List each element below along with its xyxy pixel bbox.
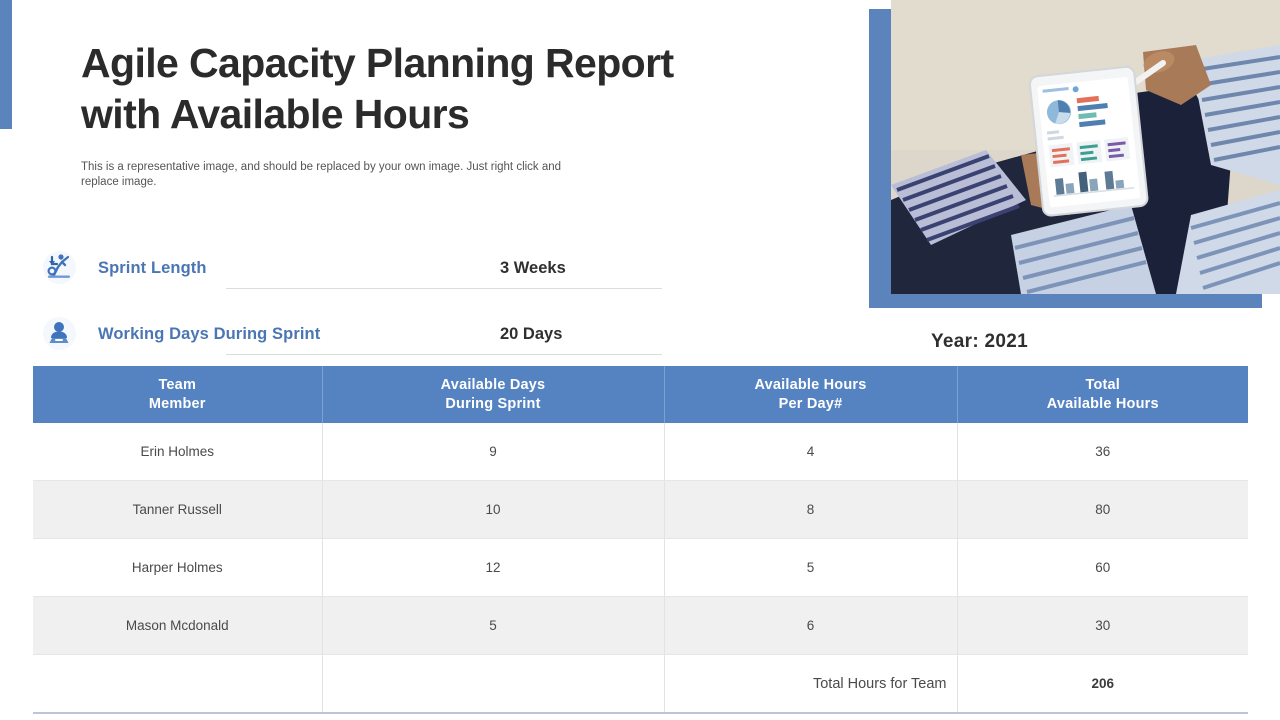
- metric-label: Working Days During Sprint: [98, 325, 320, 344]
- column-header-available-days[interactable]: Available Days During Sprint: [322, 366, 664, 423]
- header-photo[interactable]: [891, 0, 1280, 294]
- cell-total-hours: 30: [957, 597, 1248, 655]
- metric-divider: [226, 288, 662, 289]
- tablet-analytics-photo-icon: [891, 0, 1280, 294]
- cell-team-member: Mason Mcdonald: [33, 597, 322, 655]
- header-line-2: During Sprint: [323, 395, 664, 414]
- cell-total-hours: 80: [957, 481, 1248, 539]
- year-label: Year: 2021: [931, 331, 1028, 353]
- image-placeholder-note: This is a representative image, and shou…: [81, 160, 581, 190]
- capacity-table: Team Member Available Days During Sprint…: [33, 366, 1248, 714]
- header-line-2: Available Hours: [958, 395, 1249, 414]
- total-hours-label: Total Hours for Team: [664, 655, 957, 714]
- cell-team-member: Erin Holmes: [33, 423, 322, 481]
- header-line-1: Available Days: [323, 376, 664, 395]
- cell-hours-per-day: 4: [664, 423, 957, 481]
- metric-label: Sprint Length: [98, 259, 207, 278]
- header-line-1: Team: [33, 376, 322, 395]
- cell-hours-per-day: 5: [664, 539, 957, 597]
- cell-available-days: 12: [322, 539, 664, 597]
- cell-available-days: 9: [322, 423, 664, 481]
- cell-team-member: Tanner Russell: [33, 481, 322, 539]
- table-row[interactable]: Tanner Russell 10 8 80: [33, 481, 1248, 539]
- metric-sprint-length: Sprint Length 3 Weeks: [40, 248, 662, 292]
- footer-spacer-1: [33, 655, 322, 714]
- sprint-process-icon: [40, 249, 78, 287]
- header-line-2: Member: [33, 395, 322, 414]
- cell-total-hours: 36: [957, 423, 1248, 481]
- cell-available-days: 5: [322, 597, 664, 655]
- page-title: Agile Capacity Planning Report with Avai…: [81, 38, 701, 140]
- metric-value: 3 Weeks: [500, 259, 566, 278]
- header-line-2: Per Day#: [665, 395, 957, 414]
- left-accent-bar: [0, 0, 12, 129]
- table-row[interactable]: Harper Holmes 12 5 60: [33, 539, 1248, 597]
- metric-working-days: Working Days During Sprint 20 Days: [40, 314, 662, 358]
- table-row[interactable]: Erin Holmes 9 4 36: [33, 423, 1248, 481]
- header-line-1: Available Hours: [665, 376, 957, 395]
- footer-spacer-2: [322, 655, 664, 714]
- column-header-available-hours-per-day[interactable]: Available Hours Per Day#: [664, 366, 957, 423]
- table-row[interactable]: Mason Mcdonald 5 6 30: [33, 597, 1248, 655]
- cell-hours-per-day: 8: [664, 481, 957, 539]
- total-hours-value: 206: [957, 655, 1248, 714]
- person-at-laptop-icon: [40, 315, 78, 353]
- header-line-1: Total: [958, 376, 1249, 395]
- table-header-row: Team Member Available Days During Sprint…: [33, 366, 1248, 423]
- cell-hours-per-day: 6: [664, 597, 957, 655]
- metric-divider: [226, 354, 662, 355]
- cell-available-days: 10: [322, 481, 664, 539]
- table-footer-row: Total Hours for Team 206: [33, 655, 1248, 714]
- column-header-team-member[interactable]: Team Member: [33, 366, 322, 423]
- column-header-total-available-hours[interactable]: Total Available Hours: [957, 366, 1248, 423]
- metric-value: 20 Days: [500, 325, 562, 344]
- cell-total-hours: 60: [957, 539, 1248, 597]
- cell-team-member: Harper Holmes: [33, 539, 322, 597]
